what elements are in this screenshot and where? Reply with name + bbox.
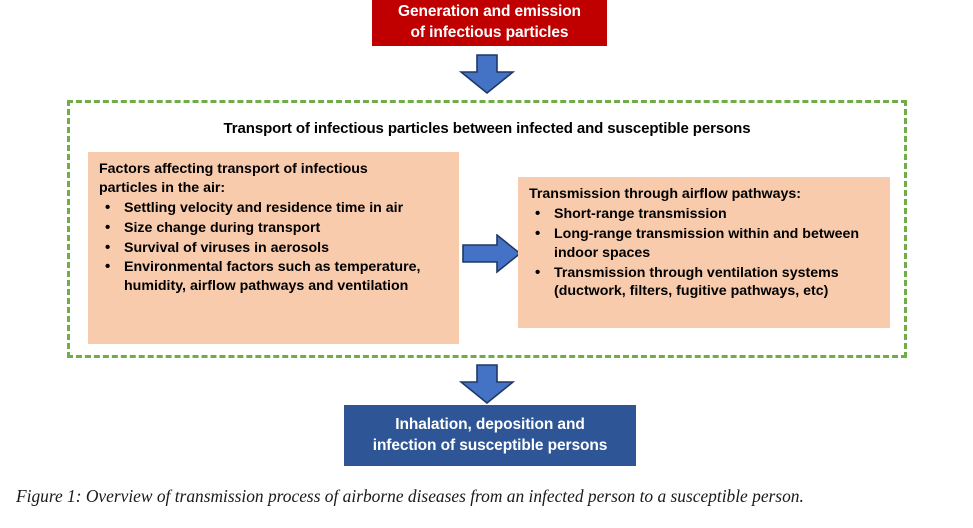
node-inhalation-line1: Inhalation, deposition and <box>395 416 584 433</box>
node-inhalation-line2: infection of susceptible persons <box>373 437 608 454</box>
panel-factors-heading-line1: Factors affecting transport of infectiou… <box>99 161 368 177</box>
panel-pathways-bullet-list: Short-range transmission Long-range tran… <box>529 205 880 301</box>
list-item: Survival of viruses in aerosols <box>99 239 449 258</box>
panel-transmission-through-airflow-pathways: Transmission through airflow pathways: S… <box>518 177 890 328</box>
node-generation-and-emission: Generation and emission of infectious pa… <box>372 0 607 46</box>
figure-diagram: Generation and emission of infectious pa… <box>0 0 973 528</box>
node-inhalation-deposition-infection: Inhalation, deposition and infection of … <box>344 405 636 466</box>
panel-factors-bullet-list: Settling velocity and residence time in … <box>99 199 449 296</box>
list-item: Transmission through ventilation systems… <box>529 264 880 302</box>
list-item: Size change during transport <box>99 219 449 238</box>
panel-pathways-heading: Transmission through airflow pathways: <box>529 185 880 204</box>
node-generation-line2: of infectious particles <box>411 24 569 41</box>
node-generation-text: Generation and emission of infectious pa… <box>398 2 581 44</box>
arrow-down-generation-to-transport <box>459 54 515 94</box>
figure-caption: Figure 1: Overview of transmission proce… <box>16 486 961 507</box>
transport-zone-title: Transport of infectious particles betwee… <box>70 120 904 137</box>
panel-factors-heading: Factors affecting transport of infectiou… <box>99 160 449 198</box>
node-inhalation-text: Inhalation, deposition and infection of … <box>373 415 608 457</box>
arrow-down-transport-to-inhalation <box>459 364 515 404</box>
list-item: Environmental factors such as temperatur… <box>99 258 449 296</box>
list-item: Settling velocity and residence time in … <box>99 199 449 218</box>
panel-factors-heading-line2: particles in the air: <box>99 180 225 196</box>
list-item: Short-range transmission <box>529 205 880 224</box>
node-generation-line1: Generation and emission <box>398 3 581 20</box>
panel-factors-affecting-transport: Factors affecting transport of infectiou… <box>88 152 459 344</box>
arrow-right-factors-to-pathways <box>462 234 522 274</box>
list-item: Long-range transmission within and betwe… <box>529 225 880 263</box>
